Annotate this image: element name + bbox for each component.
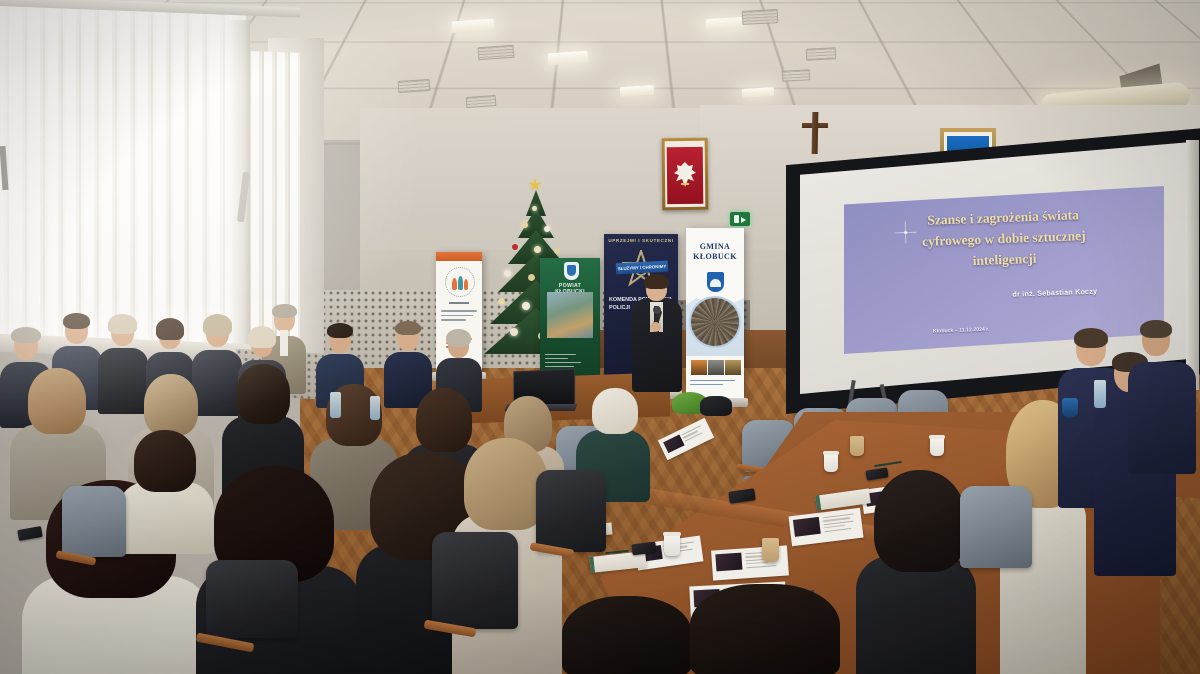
paper-cup-icon[interactable] [930, 437, 944, 456]
speaker-hair [644, 274, 669, 289]
ceiling-vent-icon [782, 69, 811, 81]
gmina-line1: GMINA [700, 242, 730, 251]
bag-icon [700, 396, 732, 416]
polish-eagle-crest-icon [662, 138, 709, 210]
banner-heading-text [441, 310, 477, 324]
paper-cup-icon[interactable] [824, 453, 838, 472]
banner-thumbnail [725, 360, 741, 375]
upholstered-chair[interactable] [536, 470, 606, 590]
ceiling-vent-icon [742, 9, 779, 25]
window-wall [0, 0, 300, 370]
crucifix-icon [812, 112, 819, 154]
kraft-cup-icon[interactable] [762, 538, 779, 562]
police-officer-icon [1128, 322, 1196, 472]
eagle-glyph [672, 160, 698, 190]
banner-thumbnail [708, 360, 724, 375]
seated-attendee [562, 596, 692, 674]
emergency-exit-icon [730, 212, 750, 226]
vertical-blinds-icon[interactable] [0, 1, 246, 351]
town-shield-icon [707, 272, 724, 292]
aerial-photo-circle [691, 298, 739, 346]
upholstered-chair[interactable] [960, 486, 1032, 606]
ceiling-vent-icon [466, 95, 497, 108]
banner-gmina-heading: GMINA KŁOBUCK [686, 242, 744, 262]
banner-powiat-footer [545, 354, 595, 370]
star-topper-icon [528, 178, 542, 192]
seated-attendee [118, 430, 214, 550]
upholstered-chair[interactable] [62, 486, 126, 590]
banner-accent-bar [436, 252, 482, 261]
ceiling-vent-icon [398, 79, 431, 93]
county-crest-icon [564, 262, 579, 280]
banner-gmina-footer [690, 380, 740, 388]
police-shoulder-patch-icon [1062, 398, 1078, 418]
water-bottle-icon[interactable] [370, 396, 380, 420]
seated-attendee [690, 584, 840, 674]
upholstered-chair[interactable] [206, 560, 298, 674]
banner-gmina-klobuck: GMINA KŁOBUCK [686, 228, 744, 400]
ceiling-vent-icon [806, 47, 837, 61]
conference-photo-scene: POWIAT KŁOBUCKI UPRZEJMI I SKUTECZNI SŁU… [0, 0, 1200, 674]
recessed-light-icon [706, 17, 745, 30]
banner-photo-collage [547, 292, 593, 338]
seated-attendee [856, 470, 976, 674]
upholstered-chair[interactable] [432, 532, 518, 674]
speaker-hand [650, 322, 661, 332]
paper-cup-icon[interactable] [664, 534, 680, 556]
ceiling-vent-icon [478, 45, 515, 60]
gmina-line2: KŁOBUCK [693, 252, 737, 261]
banner-powiat-klobucki: POWIAT KŁOBUCKI [540, 258, 600, 386]
speaker-with-microphone [628, 276, 688, 392]
banner-thumbnail [691, 360, 707, 375]
water-bottle-icon[interactable] [330, 392, 341, 418]
water-bottle-icon[interactable] [1094, 380, 1106, 408]
banner-police-heading: UPRZEJMI I SKUTECZNI [608, 238, 674, 243]
recessed-light-icon [742, 87, 774, 98]
kraft-cup-icon[interactable] [850, 436, 864, 456]
microphone-head [653, 306, 661, 314]
